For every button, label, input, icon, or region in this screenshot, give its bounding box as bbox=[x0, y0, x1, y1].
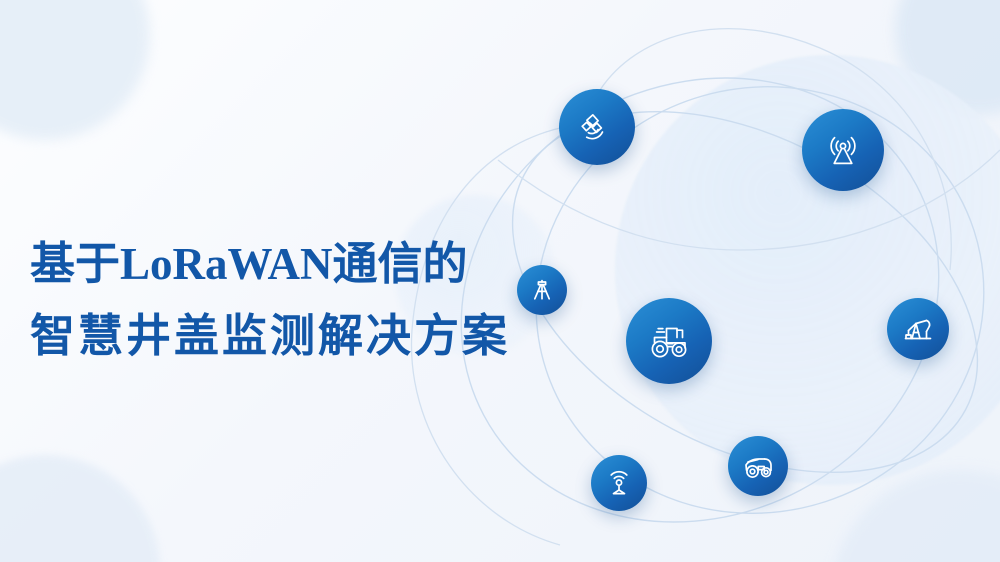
oil-pumpjack-icon bbox=[900, 311, 936, 347]
survey-tripod-icon bbox=[528, 276, 556, 304]
node-satellite[interactable] bbox=[559, 89, 635, 165]
radio-tower-icon bbox=[821, 128, 865, 172]
node-survey-tripod[interactable] bbox=[517, 265, 567, 315]
title-slide: 基于LoRaWAN通信的 智慧井盖监测解决方案 bbox=[0, 0, 1000, 562]
harvester-icon bbox=[740, 448, 776, 484]
wireless-sensor-icon bbox=[603, 467, 635, 499]
title-line-2: 智慧井盖监测解决方案 bbox=[30, 300, 550, 372]
node-wireless-sensor[interactable] bbox=[591, 455, 647, 511]
node-oil-pumpjack[interactable] bbox=[887, 298, 949, 360]
node-tractor[interactable] bbox=[626, 298, 712, 384]
page-title: 基于LoRaWAN通信的 智慧井盖监测解决方案 bbox=[30, 228, 550, 372]
node-radio-tower[interactable] bbox=[802, 109, 884, 191]
satellite-signal-icon bbox=[577, 107, 617, 147]
node-harvester[interactable] bbox=[728, 436, 788, 496]
tractor-icon bbox=[644, 316, 694, 366]
title-line-1: 基于LoRaWAN通信的 bbox=[30, 228, 550, 300]
